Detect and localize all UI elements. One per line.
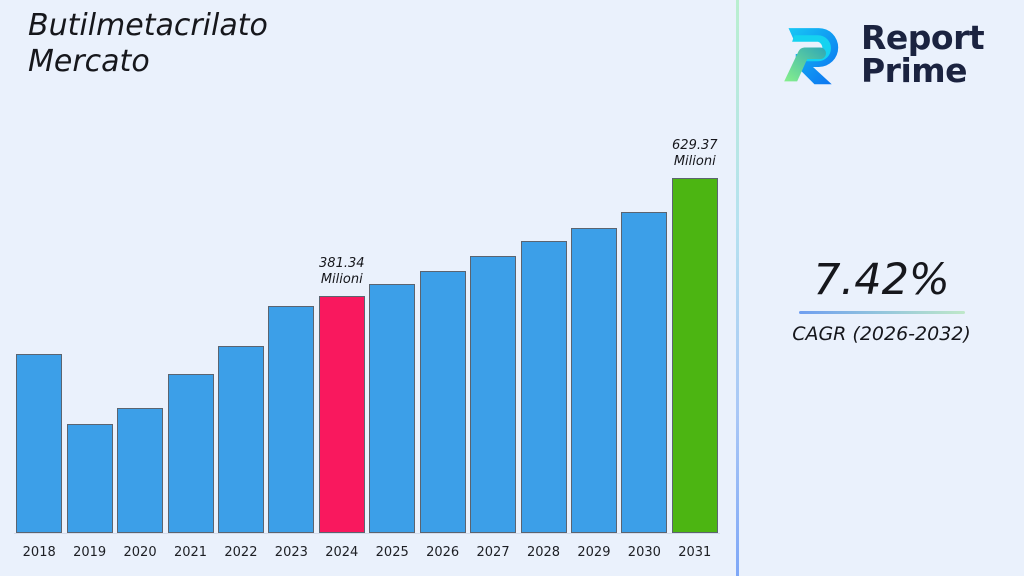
bar-2029 — [571, 228, 617, 533]
bar-2031 — [672, 178, 718, 533]
cagr-divider-rule — [799, 311, 965, 314]
brand-name: Report Prime — [861, 21, 984, 87]
bar-2020 — [117, 408, 163, 533]
bar-2025 — [369, 284, 415, 533]
bar-2019 — [67, 424, 113, 533]
bar-chart-plot: 2018201920202021202220232024381.34 Milio… — [0, 0, 737, 576]
cagr-caption: CAGR (2026-2032) — [739, 323, 1024, 346]
bar-2028 — [521, 241, 567, 533]
bar-2030 — [621, 212, 667, 533]
report-prime-logo-icon — [777, 18, 849, 90]
bar-2021 — [168, 374, 214, 533]
bar-2027 — [470, 256, 516, 533]
bar-2018 — [16, 354, 62, 533]
bar-2023 — [268, 306, 314, 533]
bar-2024 — [319, 296, 365, 533]
infographic-page: Butilmetacrilato Mercato 201820192020202… — [0, 0, 1024, 576]
cagr-value: 7.42% — [739, 255, 1024, 305]
bar-2026 — [420, 271, 466, 533]
bar-value-label-2024: 381.34 Milioni — [287, 256, 397, 288]
cagr-block: 7.42% CAGR (2026-2032) — [739, 255, 1024, 346]
brand-panel: Report Prime 7.42% CAGR (2026-2032) — [739, 0, 1024, 576]
x-axis-line — [14, 533, 720, 534]
brand-logo: Report Prime — [777, 14, 1007, 94]
chart-panel: Butilmetacrilato Mercato 201820192020202… — [0, 0, 737, 576]
x-tick-label-2031: 2031 — [665, 545, 725, 560]
bar-2022 — [218, 346, 264, 533]
bar-value-label-2031: 629.37 Milioni — [640, 138, 750, 170]
